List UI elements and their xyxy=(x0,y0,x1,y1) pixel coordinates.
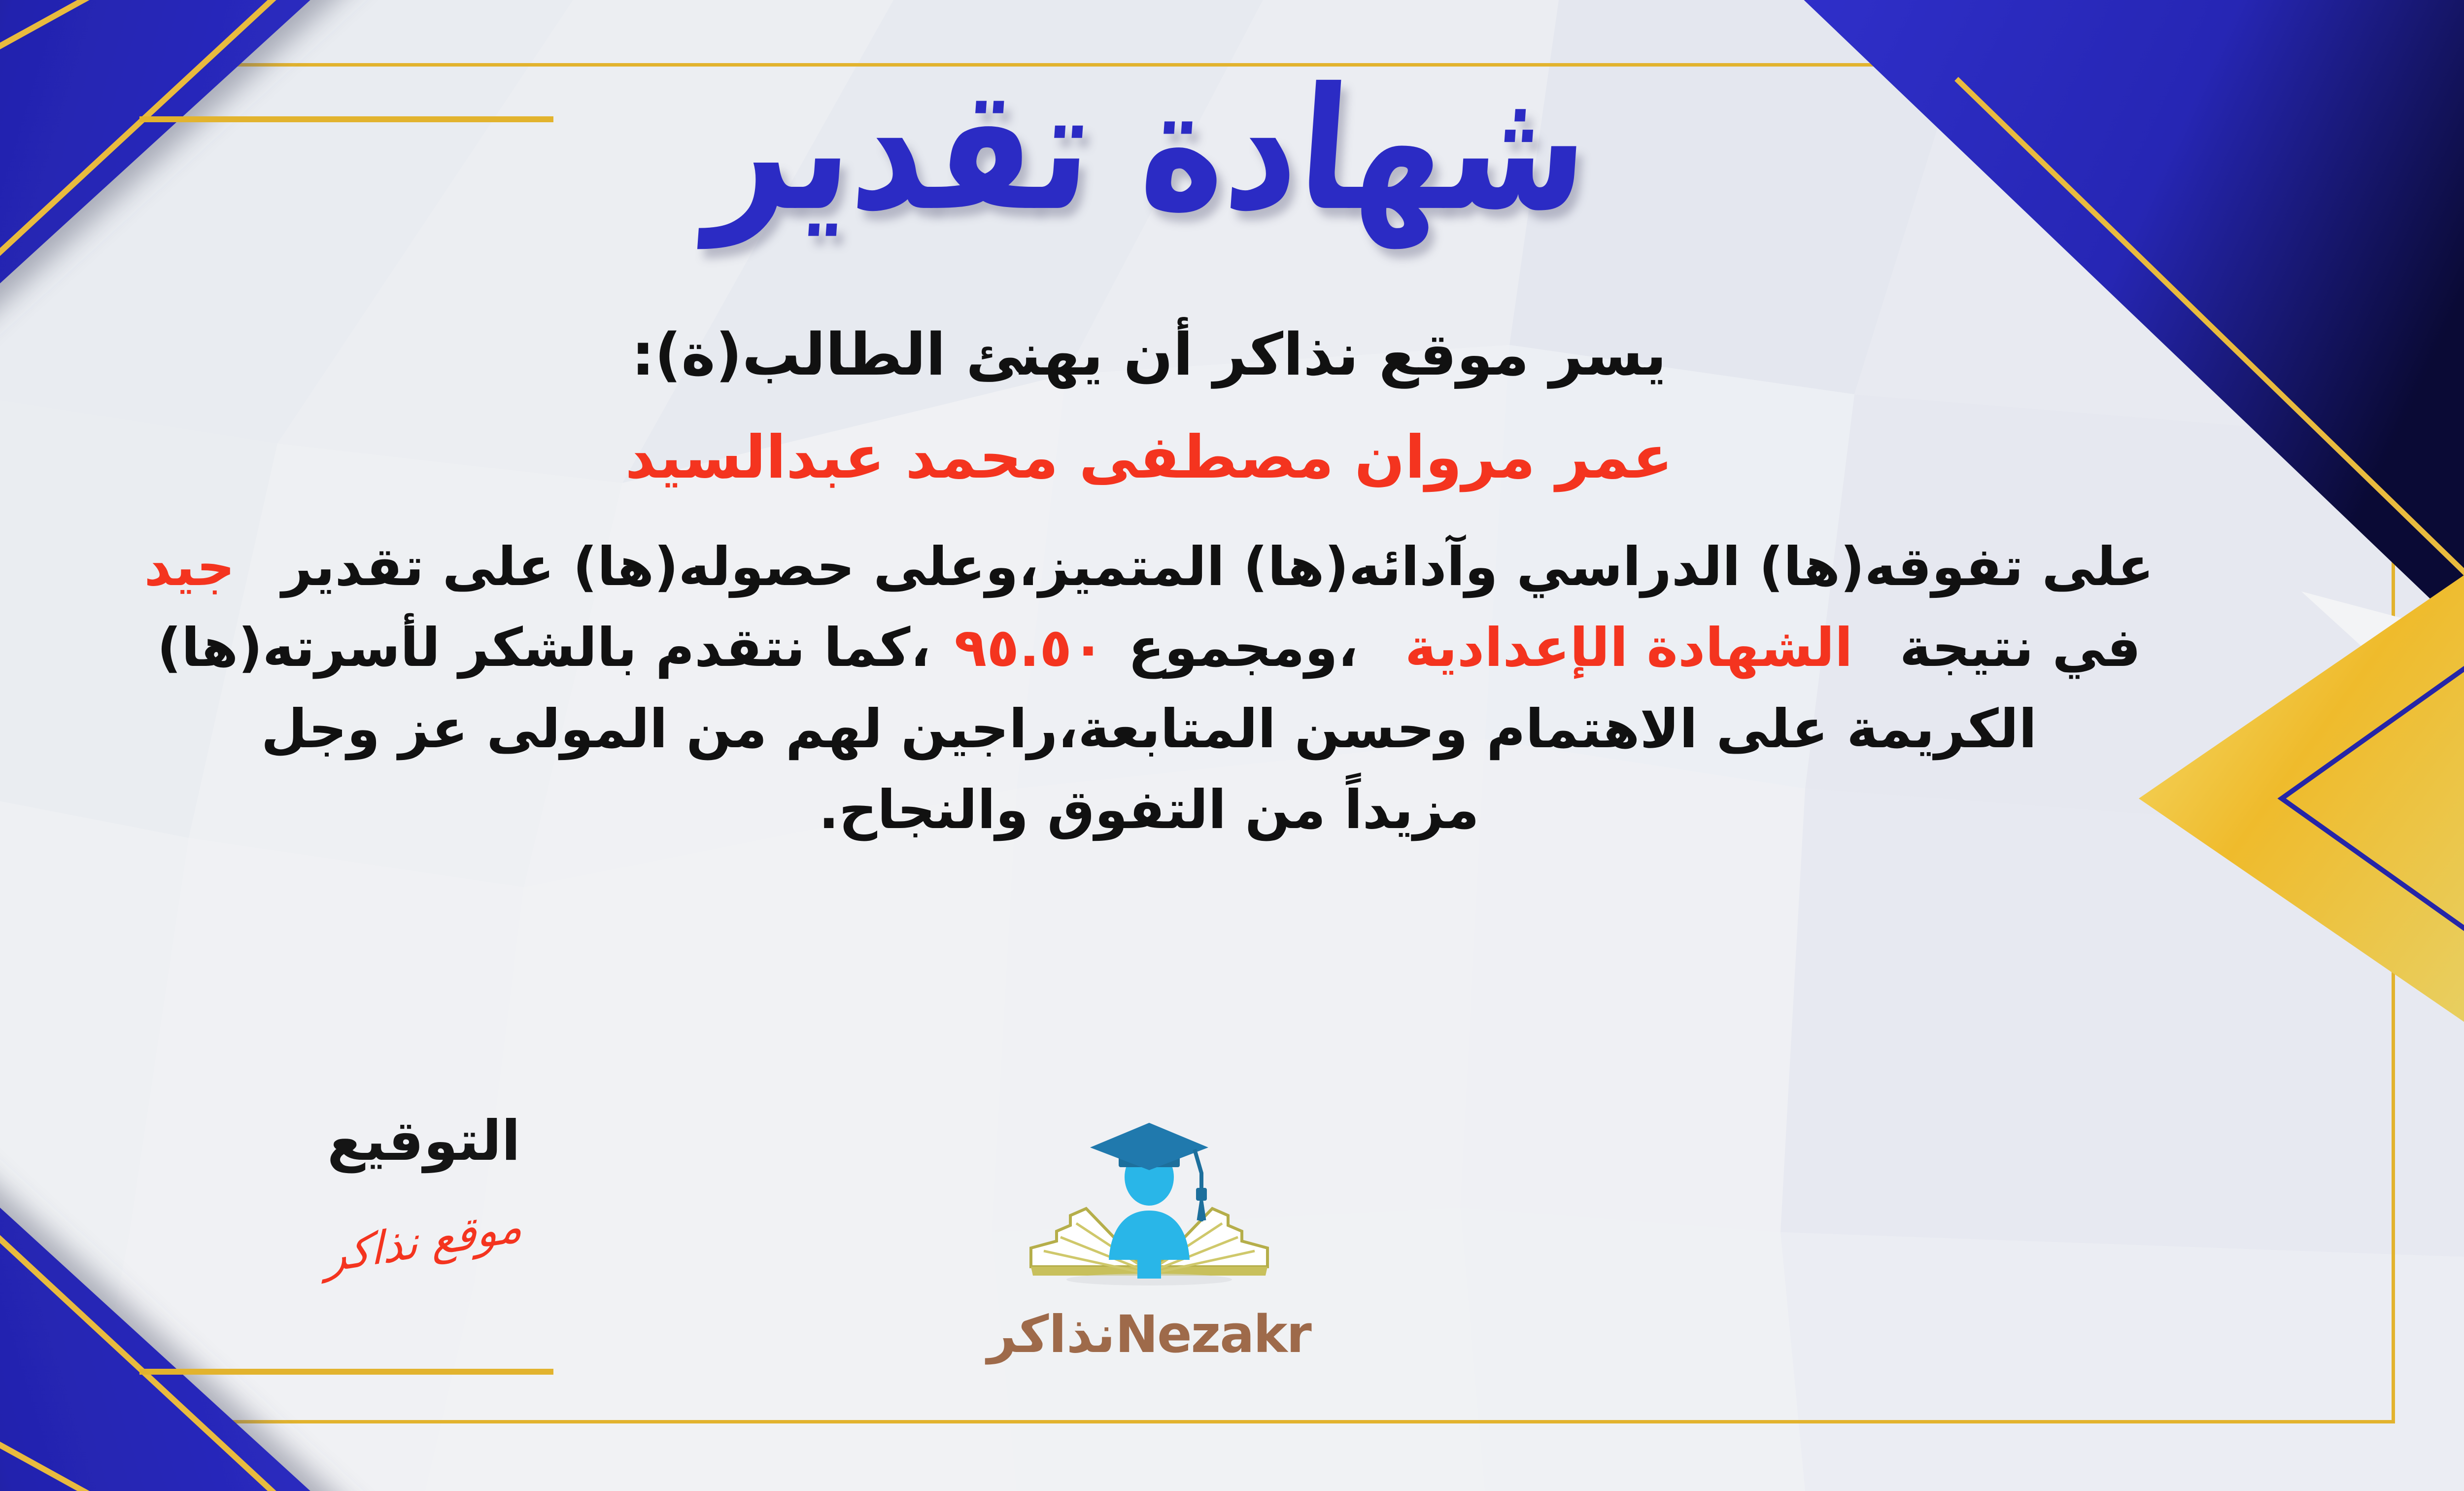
exam-name: الشهادة الإعدادية xyxy=(1405,617,1853,679)
grade-value: جيد xyxy=(144,536,235,598)
achievement-line-1-text: على تفوقه(ها) الدراسي وآدائه(ها) المتميز… xyxy=(282,536,2154,598)
logo-arabic-text: نذاكر xyxy=(987,1304,1115,1364)
logo-wordmark: Nezakrنذاكر xyxy=(962,1304,1336,1364)
signature-block: التوقيع موقع نذاكر xyxy=(237,1109,611,1267)
total-score-value: ٩٥.٥٠ xyxy=(954,617,1104,679)
thanks-text: ،كما نتقدم بالشكر لأسرته(ها) xyxy=(157,617,931,679)
student-name: عمر مروان مصطفى محمد عبدالسيد xyxy=(16,419,2283,496)
signature-handwriting: موقع نذاكر xyxy=(325,1200,523,1283)
signature-label: التوقيع xyxy=(237,1109,611,1173)
result-prefix-text: في نتيجة xyxy=(1900,617,2141,679)
total-prefix-text: ،ومجموع xyxy=(1128,617,1358,679)
certificate-body: يسر موقع نذاكر أن يهنئ الطالب(ة): عمر مر… xyxy=(16,315,2283,851)
greeting-line: يسر موقع نذاكر أن يهنئ الطالب(ة): xyxy=(16,315,2283,394)
achievement-line-3-text: الكريمة على الاهتمام وحسن المتابعة،راجين… xyxy=(261,698,2037,760)
site-logo: Nezakrنذاكر xyxy=(962,1119,1336,1364)
certificate-footer: التوقيع موقع نذاكر xyxy=(0,1109,2464,1424)
achievement-line-4-text: مزيداً من التفوق والنجاح. xyxy=(819,779,1479,841)
achievement-paragraph: على تفوقه(ها) الدراسي وآدائه(ها) المتميز… xyxy=(16,527,2283,851)
certificate-canvas: شهادة تقدير يسر موقع نذاكر أن يهنئ الطال… xyxy=(0,0,2464,1491)
title-area: شهادة تقدير xyxy=(0,59,2464,242)
certificate-title: شهادة تقدير xyxy=(704,66,1594,235)
logo-latin-text: Nezakr xyxy=(1115,1304,1311,1364)
graduate-book-icon xyxy=(1011,1119,1287,1301)
